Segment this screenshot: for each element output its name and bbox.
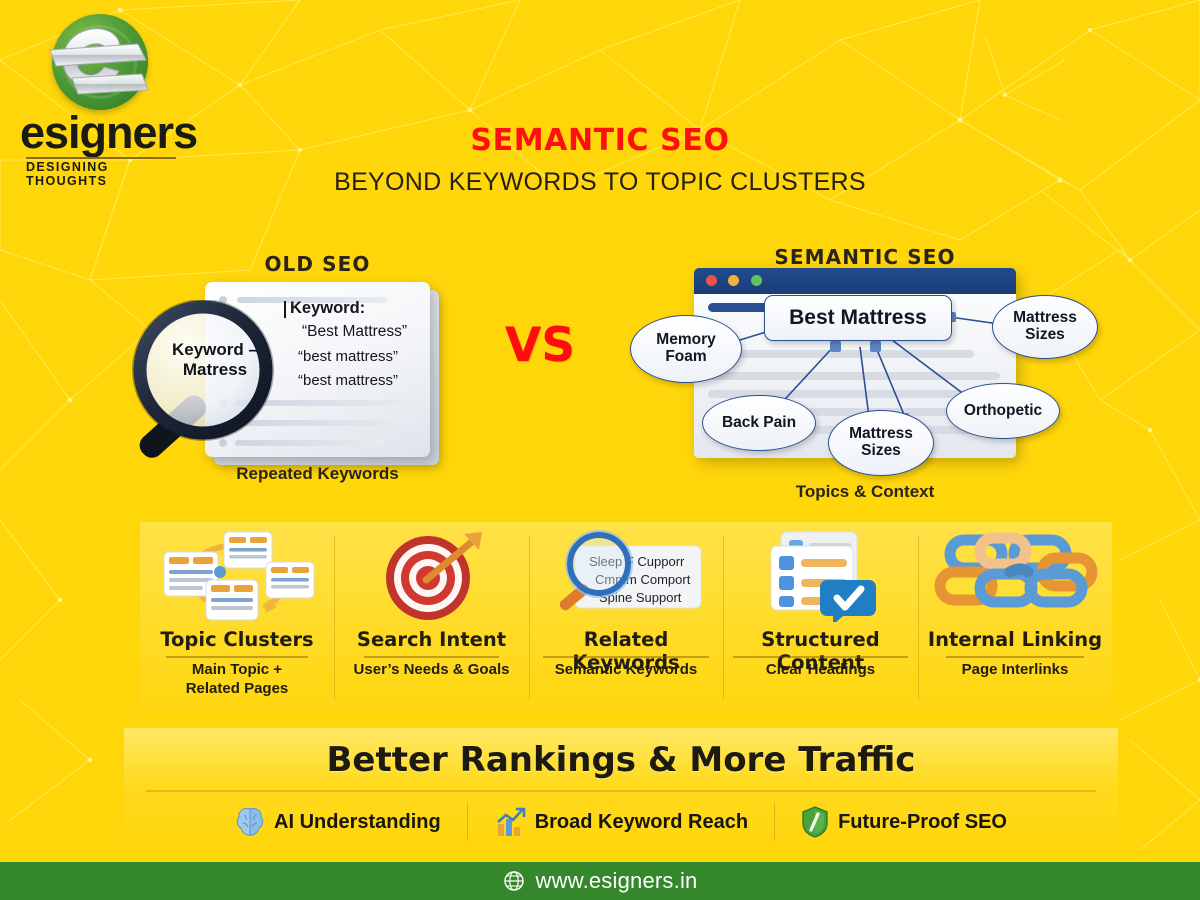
- badge-future-proof-seo-label: Future-Proof SEO: [838, 811, 1007, 834]
- badge-future-proof-seo[interactable]: Future-Proof SEO: [775, 806, 1033, 838]
- semantic-seo-caption: Topics & Context: [715, 482, 1015, 502]
- logo-e-icon: [42, 20, 160, 108]
- feature-strip: Topic Clusters Main Topic + Related Page…: [140, 522, 1112, 714]
- node-mattress-sizes-right-line2: Sizes: [1025, 327, 1065, 344]
- feature-3-rule: [543, 656, 709, 658]
- magnifier-keywords-icon: Sleep F Cupporr Cmmm Comport Spine Suppo…: [529, 528, 723, 622]
- node-mattress-sizes-bottom[interactable]: Mattress Sizes: [828, 410, 934, 476]
- vs-label: VS: [470, 318, 610, 373]
- chain-link-icon: [918, 528, 1112, 622]
- node-mattress-sizes-bottom-line1: Mattress: [849, 426, 913, 443]
- node-back-pain[interactable]: Back Pain: [702, 395, 816, 451]
- node-center-best-mattress[interactable]: Best Mattress: [764, 295, 952, 341]
- globe-icon: [503, 870, 525, 892]
- feature-1-rule: [166, 656, 308, 658]
- footer-bar: www.esigners.in: [0, 862, 1200, 900]
- growth-chart-icon: [494, 806, 526, 838]
- page-subtitle: BEYOND KEYWORDS TO TOPIC CLUSTERS: [0, 168, 1200, 197]
- feature-1-subtitle: Main Topic + Related Pages: [140, 661, 334, 699]
- badge-broad-keyword-reach-label: Broad Keyword Reach: [535, 811, 748, 834]
- old-seo-keyword-text: Keyword: “Best Mattress” “best mattress”…: [290, 300, 440, 389]
- node-memory-foam[interactable]: Memory Foam: [630, 315, 742, 383]
- feature-search-intent[interactable]: Search Intent User’s Needs & Goals: [334, 522, 529, 714]
- banner-badges: AI Understanding Broad Keyword Reach: [124, 800, 1118, 844]
- footer-url[interactable]: www.esigners.in: [536, 868, 698, 894]
- feature-5-rule: [946, 656, 1084, 658]
- badge-broad-keyword-reach[interactable]: Broad Keyword Reach: [468, 806, 774, 838]
- feature-topic-clusters[interactable]: Topic Clusters Main Topic + Related Page…: [140, 522, 334, 714]
- node-mattress-sizes-bottom-line2: Sizes: [861, 443, 901, 460]
- topic-cluster-nodes: Best Mattress Memory Foam Mattress Sizes…: [620, 265, 1100, 480]
- node-mattress-sizes-right[interactable]: Mattress Sizes: [992, 295, 1098, 359]
- feature-3-subtitle: Semantic Keywords: [529, 661, 723, 680]
- badge-ai-understanding[interactable]: AI Understanding: [209, 806, 467, 838]
- structured-content-icon: [723, 528, 918, 622]
- feature-internal-linking[interactable]: Internal Linking Page Interlinks: [918, 522, 1112, 714]
- banner-title: Better Rankings & More Traffic: [124, 740, 1118, 780]
- feature-structured-content[interactable]: Structured Content Clear Headings: [723, 522, 918, 714]
- feature-4-subtitle: Clear Headings: [723, 661, 918, 680]
- feature-2-rule: [364, 656, 499, 658]
- shield-icon: [801, 806, 829, 838]
- magnifying-glass-icon: [98, 300, 310, 475]
- feature-4-rule: [733, 656, 908, 658]
- node-orthopetic[interactable]: Orthopetic: [946, 383, 1060, 439]
- feature-1-title: Topic Clusters: [140, 628, 334, 651]
- node-memory-foam-line2: Foam: [665, 349, 706, 366]
- feature-5-title: Internal Linking: [918, 628, 1112, 651]
- feature-5-subtitle: Page Interlinks: [918, 661, 1112, 680]
- magnifier-line-2: Matress: [150, 360, 280, 380]
- banner-divider: [146, 790, 1096, 792]
- old-keyword-phrase-1: “Best Mattress”: [290, 323, 440, 341]
- node-memory-foam-line1: Memory: [656, 332, 715, 349]
- magnifier-line-1: Keyword –: [150, 340, 280, 360]
- topic-clusters-icon: [140, 528, 334, 622]
- brain-icon: [235, 806, 265, 838]
- feature-1-sub-line1: Main Topic +: [140, 661, 334, 680]
- old-seo-caption: Repeated Keywords: [170, 464, 465, 484]
- old-keyword-phrase-2: “best mattress”: [290, 348, 440, 365]
- feature-2-title: Search Intent: [334, 628, 529, 651]
- node-mattress-sizes-right-line1: Mattress: [1013, 310, 1077, 327]
- old-seo-heading: OLD SEO: [170, 252, 465, 276]
- target-icon: [334, 528, 529, 622]
- feature-related-keywords[interactable]: Sleep F Cupporr Cmmm Comport Spine Suppo…: [529, 522, 723, 714]
- infographic-canvas: esigners DESIGNING THOUGHTS SEMANTIC SEO…: [0, 0, 1200, 900]
- badge-ai-understanding-label: AI Understanding: [274, 811, 441, 834]
- feature-1-sub-line2: Related Pages: [140, 680, 334, 699]
- results-banner: Better Rankings & More Traffic AI Unders…: [124, 728, 1118, 848]
- feature-2-subtitle: User’s Needs & Goals: [334, 661, 529, 680]
- page-title: SEMANTIC SEO: [0, 123, 1200, 158]
- magnifier-keyword-text: Keyword – Matress: [150, 340, 280, 380]
- old-keyword-phrase-3: “best mattress”: [290, 372, 440, 389]
